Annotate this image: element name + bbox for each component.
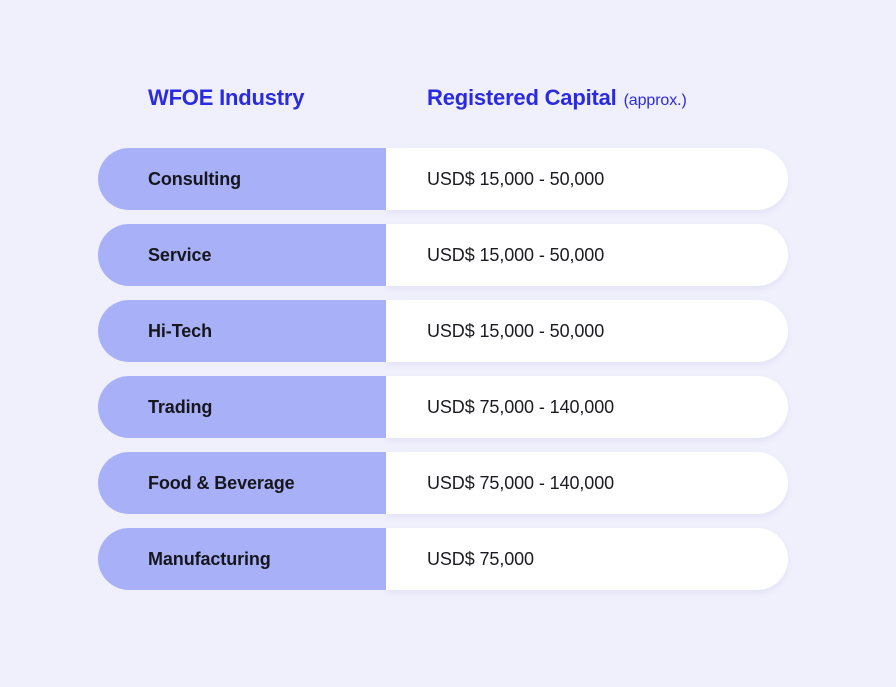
cell-industry: Trading [98,376,386,438]
industry-label: Trading [148,397,212,418]
cell-industry: Service [98,224,386,286]
table-row: Service USD$ 15,000 - 50,000 [98,224,788,286]
capital-value: USD$ 15,000 - 50,000 [427,321,604,342]
table-row: Trading USD$ 75,000 - 140,000 [98,376,788,438]
industry-label: Service [148,245,211,266]
cell-industry: Consulting [98,148,386,210]
table-body: Consulting USD$ 15,000 - 50,000 Service … [98,148,788,604]
capital-value: USD$ 75,000 - 140,000 [427,473,614,494]
column-header-industry-label: WFOE Industry [148,85,304,111]
capital-value: USD$ 75,000 - 140,000 [427,397,614,418]
cell-capital: USD$ 75,000 - 140,000 [386,376,788,438]
industry-label: Food & Beverage [148,473,295,494]
table-header-row: WFOE Industry Registered Capital (approx… [98,78,788,118]
industry-label: Hi-Tech [148,321,212,342]
cell-capital: USD$ 15,000 - 50,000 [386,148,788,210]
capital-value: USD$ 75,000 [427,549,534,570]
cell-industry: Hi-Tech [98,300,386,362]
infographic-canvas: WFOE Industry Registered Capital (approx… [0,0,896,687]
cell-capital: USD$ 75,000 - 140,000 [386,452,788,514]
industry-label: Consulting [148,169,241,190]
cell-capital: USD$ 15,000 - 50,000 [386,300,788,362]
capital-value: USD$ 15,000 - 50,000 [427,245,604,266]
cell-industry: Manufacturing [98,528,386,590]
column-header-capital: Registered Capital (approx.) [386,85,687,111]
capital-value: USD$ 15,000 - 50,000 [427,169,604,190]
table-row: Consulting USD$ 15,000 - 50,000 [98,148,788,210]
table-row: Manufacturing USD$ 75,000 [98,528,788,590]
column-header-capital-label: Registered Capital [427,85,617,111]
column-header-industry: WFOE Industry [98,85,386,111]
industry-label: Manufacturing [148,549,271,570]
cell-industry: Food & Beverage [98,452,386,514]
table-row: Food & Beverage USD$ 75,000 - 140,000 [98,452,788,514]
cell-capital: USD$ 75,000 [386,528,788,590]
table-row: Hi-Tech USD$ 15,000 - 50,000 [98,300,788,362]
column-header-capital-note: (approx.) [624,92,687,110]
cell-capital: USD$ 15,000 - 50,000 [386,224,788,286]
